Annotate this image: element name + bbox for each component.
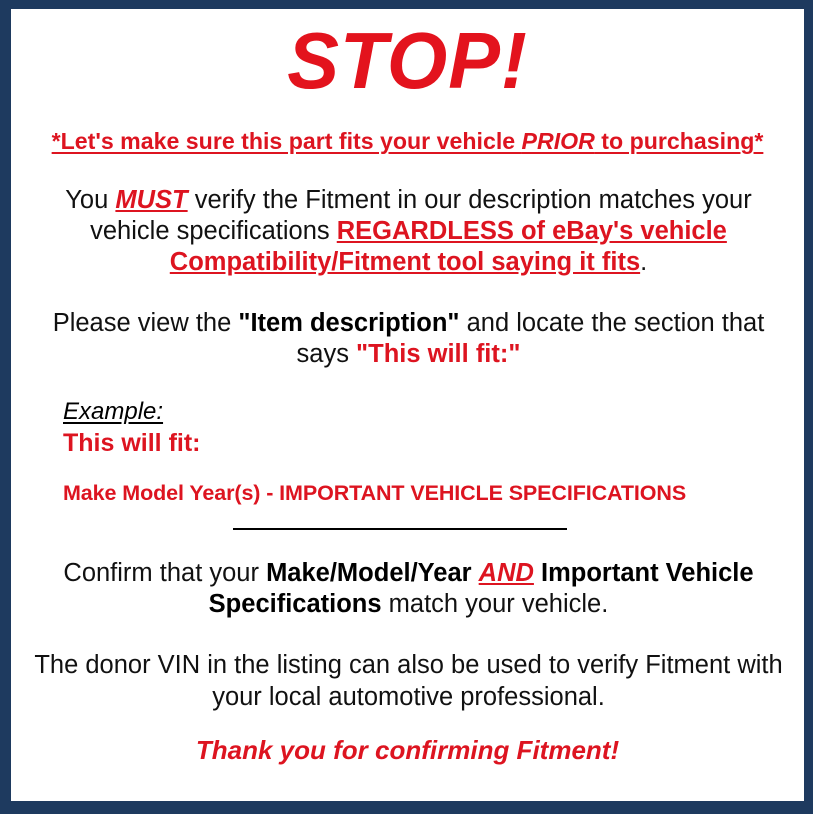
confirm-part4: match your vehicle. <box>382 590 609 618</box>
subtitle-line: *Let's make sure this part fits your veh… <box>17 101 798 154</box>
must-emphasis: MUST <box>115 186 187 214</box>
example-fit-heading: This will fit: <box>63 426 804 458</box>
item-description-paragraph: Please view the "Item description" and l… <box>11 278 804 370</box>
divider-wrapper <box>11 506 804 530</box>
example-spec-line: Make Model Year(s) - IMPORTANT VEHICLE S… <box>63 458 804 506</box>
thank-you-line: Thank you for confirming Fitment! <box>11 713 804 766</box>
notice-card: STOP! *Let's make sure this part fits yo… <box>11 9 804 801</box>
example-label: Example: <box>63 398 163 426</box>
example-block: Example: This will fit: Make Model Year(… <box>11 370 804 506</box>
make-model-year-emphasis: Make/Model/Year <box>266 559 472 587</box>
desc-para-part1: Please view the <box>53 309 239 337</box>
stop-title: STOP! <box>23 9 792 101</box>
must-para-part3: . <box>640 248 647 276</box>
subtitle-lead: *Let's make sure this part fits your veh… <box>52 128 522 154</box>
donor-vin-paragraph: The donor VIN in the listing can also be… <box>11 620 804 712</box>
example-label-row: Example: <box>63 398 804 426</box>
this-will-fit-emphasis: "This will fit:" <box>356 340 520 368</box>
item-description-emphasis: "Item description" <box>238 309 459 337</box>
confirm-part3 <box>534 559 541 587</box>
subtitle-emphasis-prior: PRIOR <box>522 128 595 154</box>
notice-border-frame: STOP! *Let's make sure this part fits yo… <box>0 0 813 814</box>
and-emphasis: AND <box>479 559 534 587</box>
confirm-paragraph: Confirm that your Make/Model/Year AND Im… <box>11 530 804 620</box>
must-verify-paragraph: You MUST verify the Fitment in our descr… <box>11 154 804 278</box>
confirm-part2 <box>472 559 479 587</box>
subtitle-tail: to purchasing* <box>595 128 763 154</box>
must-para-part1: You <box>65 186 115 214</box>
confirm-part1: Confirm that your <box>63 559 266 587</box>
